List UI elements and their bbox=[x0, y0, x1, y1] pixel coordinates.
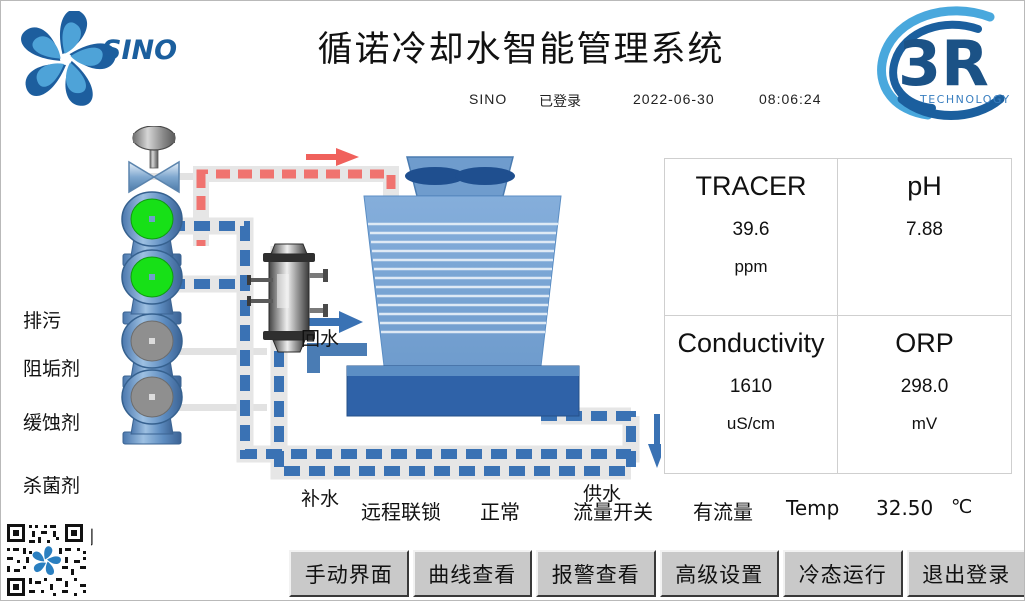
r3-tagline: TECHNOLOGY bbox=[919, 93, 1011, 106]
return-flow-arrow bbox=[306, 148, 359, 166]
temperature-value: 32.50 bbox=[876, 496, 933, 520]
pump-corrosion-inhibitor bbox=[122, 250, 182, 324]
interlock-status: 正常 bbox=[480, 496, 520, 525]
measurement-unit: ppm bbox=[734, 257, 767, 277]
flow-switch-label: 流量开关 bbox=[573, 496, 653, 525]
measurement-name: TRACER bbox=[695, 172, 806, 202]
measurement-value: 298.0 bbox=[901, 376, 949, 398]
blowdown-valve-icon bbox=[129, 126, 179, 192]
header-bar: SINO 循诺冷却水智能管理系统 SINO 已登录 2022-06-30 08:… bbox=[1, 1, 1025, 126]
system-time: 08:06:24 bbox=[759, 91, 822, 107]
label-blowdown: 排污 bbox=[23, 306, 61, 333]
sino-wordmark: SINO bbox=[102, 35, 177, 66]
system-date: 2022-06-30 bbox=[633, 91, 715, 107]
logged-in-user: SINO bbox=[469, 91, 507, 107]
pump-ph-adjuster bbox=[122, 370, 182, 444]
r3-wordmark: 3R bbox=[898, 27, 989, 100]
label-scale-inhibitor: 阻垢剂 bbox=[23, 354, 80, 381]
sino-logo: SINO bbox=[9, 11, 184, 106]
cold-start-run-button[interactable]: 冷态运行 bbox=[783, 550, 903, 597]
interlock-label: 远程联锁 bbox=[361, 496, 441, 525]
r3-technology-logo: 3R TECHNOLOGY bbox=[862, 3, 1022, 123]
label-makeup-water: 补水 bbox=[301, 484, 339, 511]
logout-button[interactable]: 退出登录 bbox=[907, 550, 1025, 597]
measurement-panel: TRACER 39.6 ppm pH 7.88 Conductivity 161… bbox=[664, 158, 1012, 474]
header-meta: SINO 已登录 2022-06-30 08:06:24 bbox=[441, 91, 911, 113]
temperature-unit: ℃ bbox=[951, 496, 972, 518]
login-status: 已登录 bbox=[539, 91, 581, 111]
measurement-value: 39.6 bbox=[733, 219, 770, 241]
measurement-cell-ph: pH 7.88 bbox=[838, 159, 1011, 316]
measurement-name: pH bbox=[907, 172, 942, 202]
label-biocide: 杀菌剂 bbox=[23, 471, 80, 498]
measurement-value: 1610 bbox=[730, 376, 772, 398]
supply-flow-arrow bbox=[648, 414, 661, 468]
page-title: 循诺冷却水智能管理系统 bbox=[281, 21, 761, 72]
alarm-view-button[interactable]: 报警查看 bbox=[536, 550, 656, 597]
cooling-tower-fan bbox=[405, 157, 515, 196]
navigation-button-bar: 手动界面 曲线查看 报警查看 高级设置 冷态运行 退出登录 bbox=[289, 550, 1025, 597]
app-window: SINO 循诺冷却水智能管理系统 SINO 已登录 2022-06-30 08:… bbox=[0, 0, 1025, 601]
measurement-cell-orp: ORP 298.0 mV bbox=[838, 316, 1011, 473]
curve-view-button[interactable]: 曲线查看 bbox=[413, 550, 533, 597]
measurement-name: ORP bbox=[895, 329, 954, 359]
manual-interface-button[interactable]: 手动界面 bbox=[289, 550, 409, 597]
label-return-water: 回水 bbox=[301, 324, 339, 351]
measurement-unit: uS/cm bbox=[727, 414, 775, 434]
flow-switch-status: 有流量 bbox=[693, 496, 753, 525]
measurement-cell-conductivity: Conductivity 1610 uS/cm bbox=[665, 316, 838, 473]
label-corrosion-inhibitor: 缓蚀剂 bbox=[23, 408, 80, 435]
qr-code bbox=[3, 522, 91, 600]
temperature-label: Temp bbox=[786, 496, 839, 520]
cooling-tower bbox=[347, 157, 579, 416]
measurement-unit: mV bbox=[912, 414, 938, 434]
measurement-cell-tracer: TRACER 39.6 ppm bbox=[665, 159, 838, 316]
return-water-pipe bbox=[201, 174, 391, 246]
advanced-settings-button[interactable]: 高级设置 bbox=[660, 550, 780, 597]
measurement-name: Conductivity bbox=[677, 329, 824, 359]
process-diagram: 排污 阻垢剂 缓蚀剂 杀菌剂 pH调节剂 回水 补水 供水 bbox=[1, 126, 661, 486]
measurement-value: 7.88 bbox=[906, 219, 943, 241]
status-bar: 远程联锁 正常 流量开关 有流量 Temp 32.50 ℃ bbox=[341, 496, 1025, 530]
